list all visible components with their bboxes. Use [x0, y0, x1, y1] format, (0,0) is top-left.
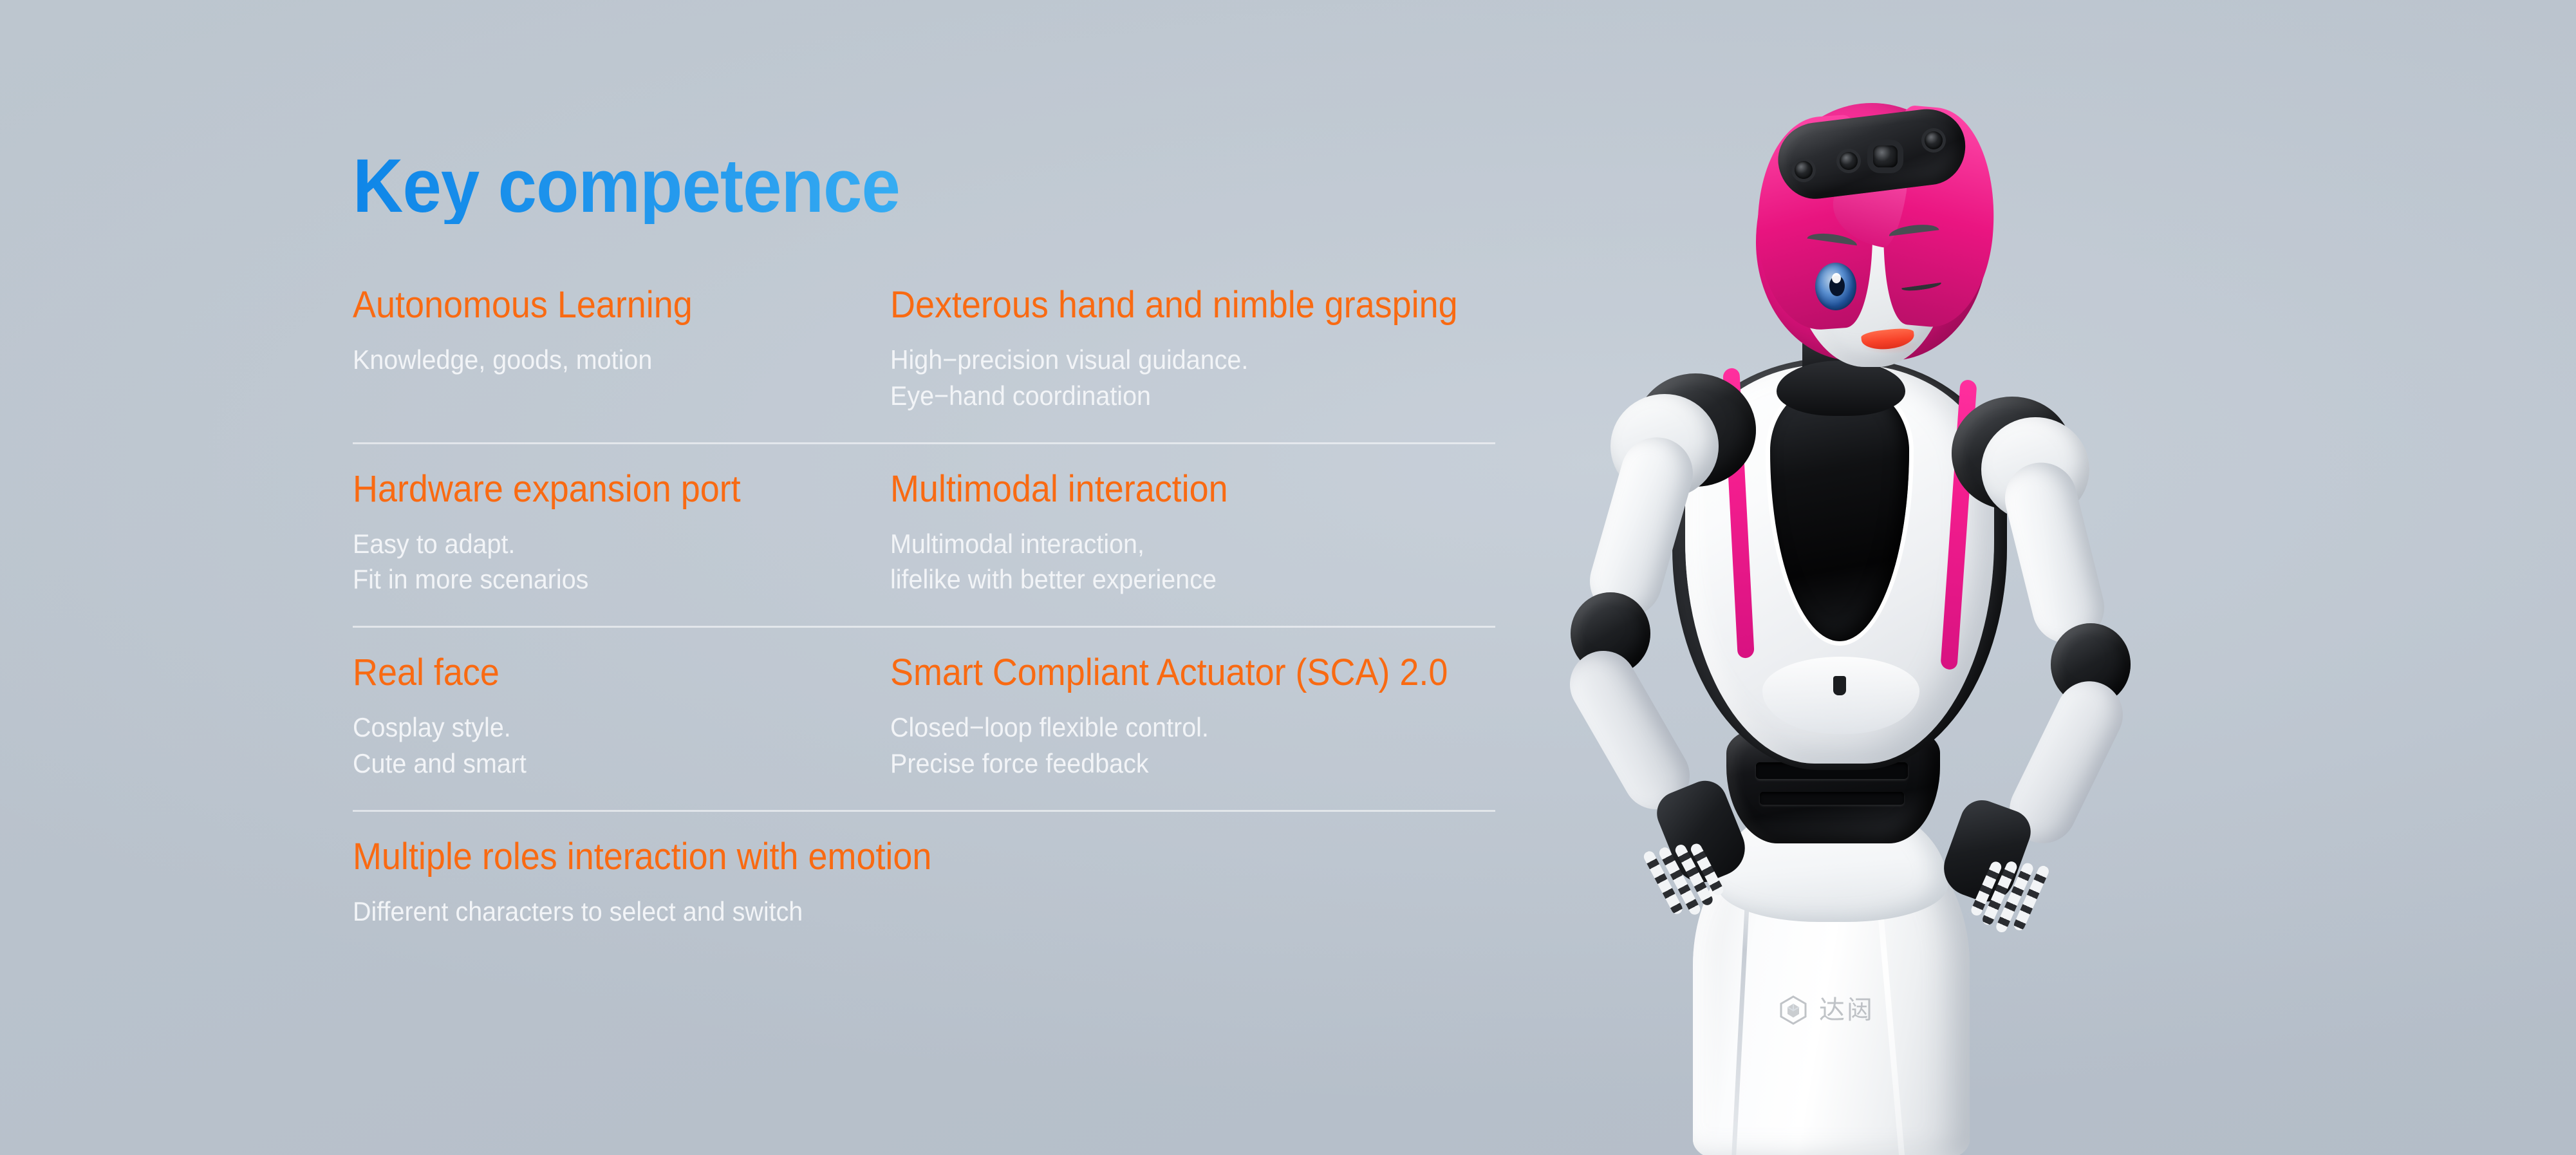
- feature-line: lifelike with better experience: [890, 561, 1459, 597]
- content-panel: Key competence Autonomous Learning Knowl…: [353, 148, 1505, 959]
- feature-line: Cosplay style.: [353, 709, 858, 746]
- feature-body: Different characters to select and switc…: [353, 894, 1427, 930]
- feature-body: Closed−loop flexible control. Precise fo…: [890, 709, 1459, 782]
- feature-heading: Dexterous hand and nimble grasping: [890, 286, 1453, 325]
- brand-logo: 达闼: [1778, 995, 1874, 1026]
- robot-collar: [1777, 361, 1905, 416]
- feature-line: Multimodal interaction,: [890, 526, 1459, 562]
- feature-line: Closed−loop flexible control.: [890, 709, 1459, 746]
- feature-line: Cute and smart: [353, 746, 858, 782]
- feature-row-1: Autonomous Learning Knowledge, goods, mo…: [353, 286, 1495, 444]
- camera-lens-icon: [1840, 152, 1858, 170]
- cube-hexagon-icon: [1778, 995, 1809, 1026]
- feature-row-4: Multiple roles interaction with emotion …: [353, 812, 1495, 959]
- feature-line: Eye−hand coordination: [890, 378, 1459, 414]
- camera-lens-icon: [1925, 131, 1943, 149]
- feature-item-multimodal-interaction[interactable]: Multimodal interaction Multimodal intera…: [890, 444, 1495, 626]
- robot-abdomen-plate: [1762, 657, 1919, 734]
- feature-line: Different characters to select and switc…: [353, 894, 1427, 930]
- feature-heading: Multiple roles interaction with emotion: [353, 838, 1415, 877]
- robot-illustration: 达闼: [1500, 77, 2343, 1155]
- page-title: Key competence: [353, 148, 1413, 224]
- feature-body: Cosplay style. Cute and smart: [353, 709, 858, 782]
- feature-item-real-face[interactable]: Real face Cosplay style. Cute and smart: [353, 628, 890, 810]
- feature-item-smart-compliant-actuator[interactable]: Smart Compliant Actuator (SCA) 2.0 Close…: [890, 628, 1495, 810]
- feature-item-hardware-expansion-port[interactable]: Hardware expansion port Easy to adapt. F…: [353, 444, 890, 626]
- camera-lens-icon: [1795, 161, 1813, 179]
- feature-line: Easy to adapt.: [353, 526, 858, 562]
- feature-row-2: Hardware expansion port Easy to adapt. F…: [353, 444, 1495, 628]
- robot-waist-slot-lower: [1760, 792, 1904, 805]
- feature-body: High−precision visual guidance. Eye−hand…: [890, 342, 1459, 414]
- robot-abdomen-port: [1833, 676, 1846, 695]
- feature-body: Easy to adapt. Fit in more scenarios: [353, 526, 858, 598]
- feature-heading: Autonomous Learning: [353, 286, 853, 325]
- robot-upper-arm-right: [1997, 455, 2112, 652]
- feature-heading: Smart Compliant Actuator (SCA) 2.0: [890, 653, 1453, 693]
- feature-line: Fit in more scenarios: [353, 561, 858, 597]
- feature-row-3: Real face Cosplay style. Cute and smart …: [353, 628, 1495, 812]
- slide-root: Key competence Autonomous Learning Knowl…: [0, 0, 2576, 1155]
- feature-item-autonomous-learning[interactable]: Autonomous Learning Knowledge, goods, mo…: [353, 286, 890, 442]
- camera-lens-icon: [1873, 146, 1898, 167]
- feature-line: Precise force feedback: [890, 746, 1459, 782]
- brand-name: 达闼: [1819, 997, 1874, 1023]
- feature-grid: Autonomous Learning Knowledge, goods, mo…: [353, 286, 1495, 959]
- feature-line: High−precision visual guidance.: [890, 342, 1459, 378]
- feature-line: Knowledge, goods, motion: [353, 342, 858, 378]
- feature-heading: Multimodal interaction: [890, 470, 1453, 509]
- feature-heading: Real face: [353, 653, 853, 693]
- feature-item-dexterous-hand[interactable]: Dexterous hand and nimble grasping High−…: [890, 286, 1495, 442]
- feature-body: Multimodal interaction, lifelike with be…: [890, 526, 1459, 598]
- feature-body: Knowledge, goods, motion: [353, 342, 858, 378]
- feature-item-multiple-roles-interaction[interactable]: Multiple roles interaction with emotion …: [353, 812, 1495, 959]
- robot-eye-glint: [1832, 273, 1841, 283]
- feature-heading: Hardware expansion port: [353, 470, 853, 509]
